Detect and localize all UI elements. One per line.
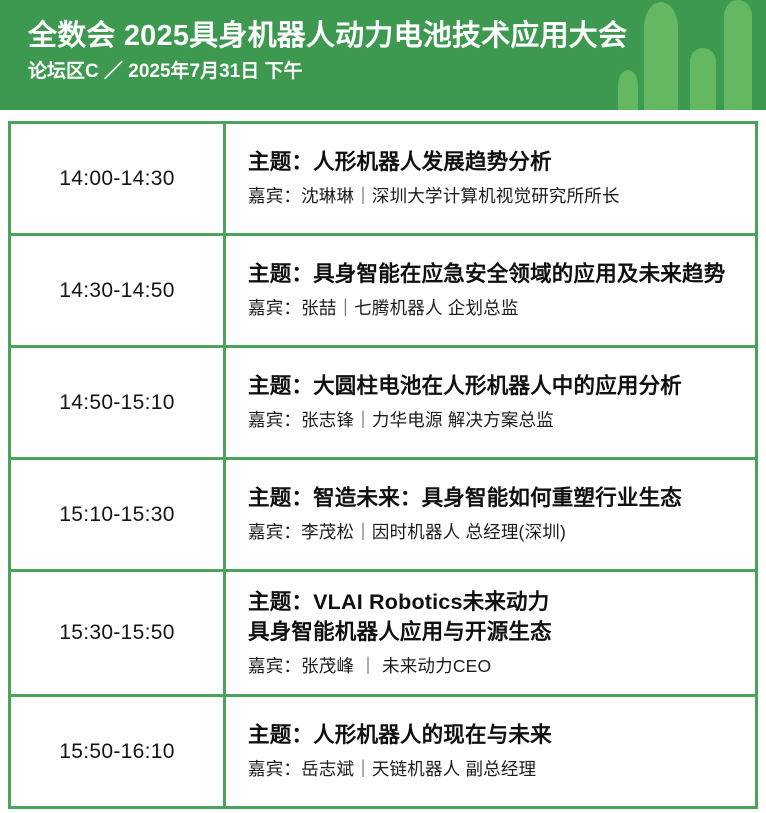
event-subtitle: 论坛区C ／ 2025年7月31日 下午 <box>28 59 627 85</box>
header-banner: 全数会 2025具身机器人动力电池技术应用大会 论坛区C ／ 2025年7月31… <box>0 0 766 110</box>
session-detail: 主题：大圆柱电池在人形机器人中的应用分析 嘉宾：张志锋｜力华电源 解决方案总监 <box>225 347 757 459</box>
session-guest: 嘉宾：岳志斌｜天链机器人 副总经理 <box>248 756 745 783</box>
table-row: 14:30-14:50 主题：具身智能在应急安全领域的应用及未来趋势 嘉宾：张喆… <box>10 235 757 347</box>
session-detail: 主题：人形机器人发展趋势分析 嘉宾：沈琳琳｜深圳大学计算机视觉研究所所长 <box>225 123 757 235</box>
table-row: 14:50-15:10 主题：大圆柱电池在人形机器人中的应用分析 嘉宾：张志锋｜… <box>10 347 757 459</box>
session-guest: 嘉宾：张喆｜七腾机器人 企划总监 <box>248 295 745 322</box>
session-time: 15:30-15:50 <box>10 571 225 696</box>
session-guest: 嘉宾：张茂峰 ｜ 未来动力CEO <box>248 653 745 680</box>
session-detail: 主题：智造未来：具身智能如何重塑行业生态 嘉宾：李茂松｜因时机器人 总经理(深圳… <box>225 459 757 571</box>
session-topic: 主题：人形机器人的现在与未来 <box>248 720 745 750</box>
schedule-table-container: 14:00-14:30 主题：人形机器人发展趋势分析 嘉宾：沈琳琳｜深圳大学计算… <box>8 121 758 809</box>
session-detail: 主题：人形机器人的现在与未来 嘉宾：岳志斌｜天链机器人 副总经理 <box>225 696 757 808</box>
session-guest: 嘉宾：沈琳琳｜深圳大学计算机视觉研究所所长 <box>248 183 745 210</box>
session-detail: 主题：VLAI Robotics未来动力 具身智能机器人应用与开源生态 嘉宾：张… <box>225 571 757 696</box>
table-row: 15:30-15:50 主题：VLAI Robotics未来动力 具身智能机器人… <box>10 571 757 696</box>
session-time: 15:50-16:10 <box>10 696 225 808</box>
session-topic: 主题：智造未来：具身智能如何重塑行业生态 <box>248 483 745 513</box>
table-row: 15:10-15:30 主题：智造未来：具身智能如何重塑行业生态 嘉宾：李茂松｜… <box>10 459 757 571</box>
session-time: 14:50-15:10 <box>10 347 225 459</box>
session-topic-line2: 具身智能机器人应用与开源生态 <box>248 617 745 647</box>
session-time: 14:00-14:30 <box>10 123 225 235</box>
session-time: 15:10-15:30 <box>10 459 225 571</box>
session-time: 14:30-14:50 <box>10 235 225 347</box>
table-row: 15:50-16:10 主题：人形机器人的现在与未来 嘉宾：岳志斌｜天链机器人 … <box>10 696 757 808</box>
deco-bar-3 <box>690 48 716 110</box>
session-topic: 主题：人形机器人发展趋势分析 <box>248 147 745 177</box>
session-topic: 主题：VLAI Robotics未来动力 <box>248 587 745 617</box>
session-topic: 主题：大圆柱电池在人形机器人中的应用分析 <box>248 371 745 401</box>
conference-schedule-poster: 全数会 2025具身机器人动力电池技术应用大会 论坛区C ／ 2025年7月31… <box>0 0 766 813</box>
table-row: 14:00-14:30 主题：人形机器人发展趋势分析 嘉宾：沈琳琳｜深圳大学计算… <box>10 123 757 235</box>
schedule-table: 14:00-14:30 主题：人形机器人发展趋势分析 嘉宾：沈琳琳｜深圳大学计算… <box>8 121 758 809</box>
deco-bar-4 <box>724 0 752 110</box>
header-text-block: 全数会 2025具身机器人动力电池技术应用大会 论坛区C ／ 2025年7月31… <box>28 19 627 85</box>
session-topic: 主题：具身智能在应急安全领域的应用及未来趋势 <box>248 259 745 289</box>
session-detail: 主题：具身智能在应急安全领域的应用及未来趋势 嘉宾：张喆｜七腾机器人 企划总监 <box>225 235 757 347</box>
bar-chart-decoration-icon <box>616 0 766 110</box>
session-guest: 嘉宾：张志锋｜力华电源 解决方案总监 <box>248 407 745 434</box>
deco-bar-2 <box>644 2 678 110</box>
event-title: 全数会 2025具身机器人动力电池技术应用大会 <box>28 19 627 53</box>
session-guest: 嘉宾：李茂松｜因时机器人 总经理(深圳) <box>248 519 745 546</box>
